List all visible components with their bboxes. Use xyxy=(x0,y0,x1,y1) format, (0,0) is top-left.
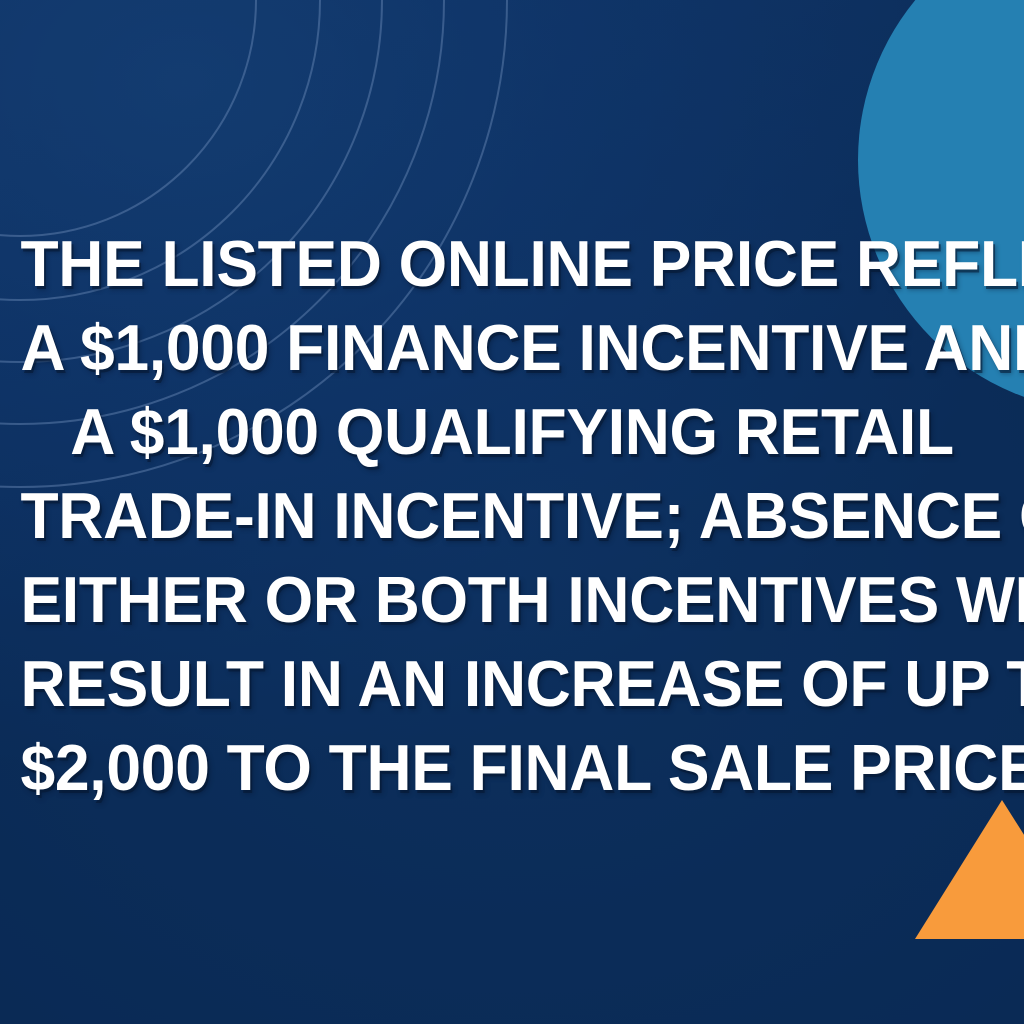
headline-line-3: A $1,000 QUALIFYING RETAIL xyxy=(20,390,1003,474)
promo-disclaimer-card: THE LISTED ONLINE PRICE REFLECTS A $1,00… xyxy=(0,0,1024,1024)
headline-line-4: TRADE-IN INCENTIVE; ABSENCE OF xyxy=(20,474,1003,558)
headline-line-6: RESULT IN AN INCREASE OF UP TO xyxy=(20,642,1003,726)
accent-triangle-shape xyxy=(915,800,1024,939)
headline-line-7: $2,000 TO THE FINAL SALE PRICE. xyxy=(20,726,1003,810)
headline-line-2: A $1,000 FINANCE INCENTIVE AND xyxy=(20,306,1003,390)
headline-line-5: EITHER OR BOTH INCENTIVES WILL xyxy=(20,558,1003,642)
headline-text-block: THE LISTED ONLINE PRICE REFLECTS A $1,00… xyxy=(0,222,1024,810)
headline-line-1: THE LISTED ONLINE PRICE REFLECTS xyxy=(20,222,1003,306)
